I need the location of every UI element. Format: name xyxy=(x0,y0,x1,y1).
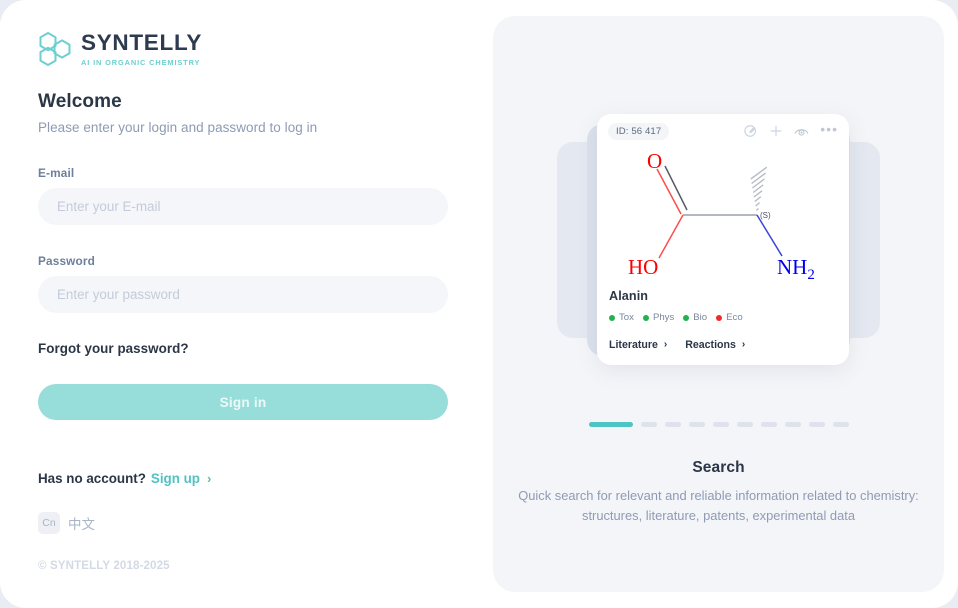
atom-label-O: O xyxy=(647,149,662,173)
status-dot-icon xyxy=(683,315,689,321)
chevron-right-icon: › xyxy=(742,340,745,350)
edit-icon[interactable] xyxy=(744,124,758,138)
chevron-right-icon: › xyxy=(664,340,667,350)
forgot-password-link[interactable]: Forgot your password? xyxy=(38,341,189,356)
language-badge-cn[interactable]: Cn xyxy=(38,512,60,534)
molecule-card-header: ID: 56 417 xyxy=(597,114,849,148)
literature-link-label: Literature xyxy=(609,339,658,351)
status-dot-icon xyxy=(609,315,615,321)
login-page: SYNTELLY AI IN ORGANIC CHEMISTRY Welcome… xyxy=(0,0,958,608)
tag-label: Bio xyxy=(693,312,707,323)
brand-wordmark: SYNTELLY AI IN ORGANIC CHEMISTRY xyxy=(81,31,202,67)
email-label: E-mail xyxy=(38,166,74,180)
card-carousel: ID: 56 417 xyxy=(493,102,944,377)
page-subtitle: Please enter your login and password to … xyxy=(38,120,317,135)
carousel-dot-9[interactable] xyxy=(809,422,825,427)
language-label-chinese[interactable]: 中文 xyxy=(68,513,95,533)
tag-eco[interactable]: Eco xyxy=(716,312,743,323)
copyright-text: © SYNTELLY 2018-2025 xyxy=(38,559,170,572)
brand-tagline: AI IN ORGANIC CHEMISTRY xyxy=(81,58,202,67)
more-icon[interactable]: ••• xyxy=(820,122,838,136)
carousel-dot-3[interactable] xyxy=(665,422,681,427)
molecule-card[interactable]: ID: 56 417 xyxy=(597,114,849,365)
carousel-dot-5[interactable] xyxy=(713,422,729,427)
atom-label-HO: HO xyxy=(628,255,658,279)
molecule-name: Alanin xyxy=(609,289,648,303)
chevron-right-icon[interactable]: › xyxy=(207,472,211,485)
molecule-card-links: Literature › Reactions › xyxy=(609,339,745,351)
molecule-structure-diagram: O HO NH2 (S) xyxy=(597,144,849,286)
carousel-dot-1[interactable] xyxy=(589,422,633,427)
carousel-dot-8[interactable] xyxy=(785,422,801,427)
molecule-property-tags: Tox Phys Bio Eco xyxy=(609,312,743,323)
brand-name: SYNTELLY xyxy=(81,31,202,55)
signup-row: Has no account? Sign up › xyxy=(38,471,211,486)
tag-bio[interactable]: Bio xyxy=(683,312,707,323)
literature-link[interactable]: Literature › xyxy=(609,339,667,351)
language-switcher[interactable]: Cn 中文 xyxy=(38,512,95,534)
status-dot-icon xyxy=(716,315,722,321)
brand-logo[interactable]: SYNTELLY AI IN ORGANIC CHEMISTRY xyxy=(38,31,202,67)
tag-label: Phys xyxy=(653,312,674,323)
carousel-dot-6[interactable] xyxy=(737,422,753,427)
carousel-dot-7[interactable] xyxy=(761,422,777,427)
molecule-id-badge: ID: 56 417 xyxy=(608,123,669,140)
tag-phys[interactable]: Phys xyxy=(643,312,674,323)
hexagon-trimer-icon xyxy=(38,31,72,67)
molecule-card-actions: ••• xyxy=(744,124,838,138)
status-dot-icon xyxy=(643,315,649,321)
tag-label: Eco xyxy=(726,312,743,323)
eye-icon[interactable] xyxy=(794,125,809,138)
password-field[interactable] xyxy=(38,276,448,313)
stereo-descriptor: (S) xyxy=(760,211,771,220)
email-field[interactable] xyxy=(38,188,448,225)
page-title: Welcome xyxy=(38,91,122,113)
signup-question: Has no account? xyxy=(38,471,146,486)
carousel-dot-10[interactable] xyxy=(833,422,849,427)
sign-in-button[interactable]: Sign in xyxy=(38,384,448,420)
carousel-dot-4[interactable] xyxy=(689,422,705,427)
plus-icon[interactable] xyxy=(769,124,783,138)
login-pane: SYNTELLY AI IN ORGANIC CHEMISTRY Welcome… xyxy=(0,0,493,608)
reactions-link[interactable]: Reactions › xyxy=(685,339,745,351)
password-label: Password xyxy=(38,254,95,268)
promo-pane: ID: 56 417 xyxy=(493,16,944,592)
promo-title: Search xyxy=(493,459,944,477)
atom-label-NH2: NH2 xyxy=(777,255,815,283)
tag-label: Tox xyxy=(619,312,634,323)
promo-description: Quick search for relevant and reliable i… xyxy=(509,486,928,527)
tag-tox[interactable]: Tox xyxy=(609,312,634,323)
sign-up-link[interactable]: Sign up xyxy=(151,471,200,486)
carousel-pagination xyxy=(493,422,944,427)
reactions-link-label: Reactions xyxy=(685,339,736,351)
carousel-dot-2[interactable] xyxy=(641,422,657,427)
